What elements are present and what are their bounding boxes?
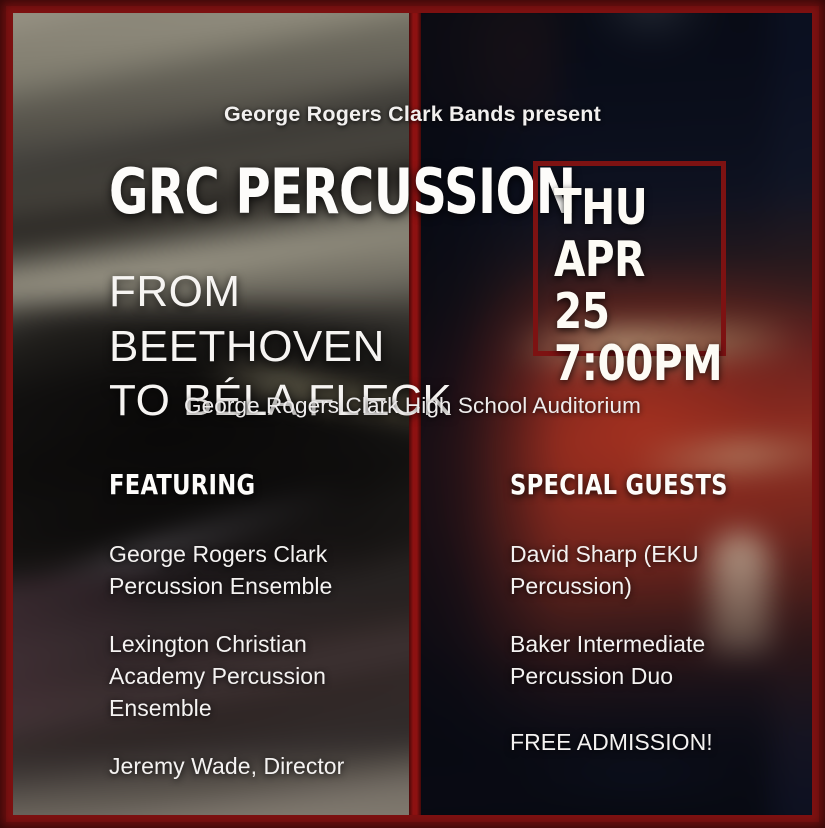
list-item: David Sharp (EKU Percussion) — [510, 539, 800, 603]
admission-note: FREE ADMISSION! — [510, 727, 800, 759]
poster-content: George Rogers Clark Bands present GRC PE… — [13, 13, 812, 815]
concert-poster: George Rogers Clark Bands present GRC PE… — [0, 0, 825, 828]
date-time: 7:00PM — [554, 338, 708, 390]
page-title: GRC PERCUSSION — [109, 161, 456, 223]
date-time-text: THU APR 25 7:00PM — [538, 166, 721, 351]
featuring-column: FEATURING George Rogers Clark Percussion… — [109, 468, 399, 783]
subtitle-line-1: FROM BEETHOVEN — [109, 265, 519, 374]
special-guests-column: SPECIAL GUESTS David Sharp (EKU Percussi… — [510, 468, 800, 759]
poster-canvas: George Rogers Clark Bands present GRC PE… — [13, 13, 812, 815]
list-item: Baker Intermediate Percussion Duo — [510, 629, 800, 693]
featuring-heading: FEATURING — [109, 468, 399, 501]
list-item: George Rogers Clark Percussion Ensemble — [109, 539, 399, 603]
presenter-line: George Rogers Clark Bands present — [13, 102, 812, 127]
list-item: Lexington Christian Academy Percussion E… — [109, 629, 399, 725]
featuring-heading-label: FEATURING — [109, 468, 255, 501]
special-guests-heading-label: SPECIAL GUESTS — [510, 468, 728, 501]
list-item: Jeremy Wade, Director — [109, 751, 399, 783]
venue-line: George Rogers Clark High School Auditori… — [13, 393, 812, 419]
date-day: THU — [554, 182, 708, 234]
date-month-day: APR 25 — [554, 234, 708, 338]
special-guests-heading: SPECIAL GUESTS — [510, 468, 800, 501]
date-time-box: THU APR 25 7:00PM — [533, 161, 726, 356]
